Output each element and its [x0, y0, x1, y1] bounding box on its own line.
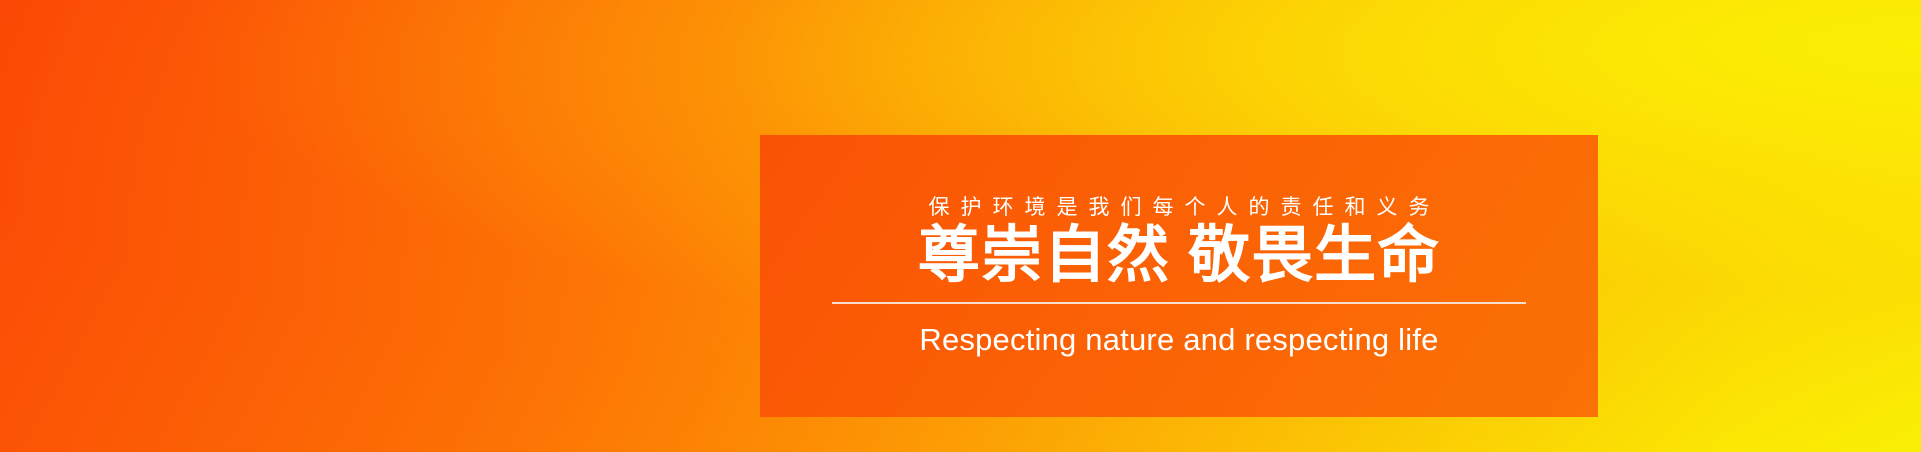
panel-tagline-text: Respecting nature and respecting life	[832, 324, 1526, 355]
environmental-slogan-banner: 保护环境是我们每个人的责任和义务 尊崇自然 敬畏生命 Respecting na…	[0, 0, 1921, 452]
panel-divider	[832, 302, 1526, 304]
panel-eyebrow-text: 保护环境是我们每个人的责任和义务	[832, 197, 1526, 218]
panel-headline-text: 尊崇自然 敬畏生命	[832, 224, 1526, 287]
slogan-panel: 保护环境是我们每个人的责任和义务 尊崇自然 敬畏生命 Respecting na…	[760, 135, 1598, 417]
